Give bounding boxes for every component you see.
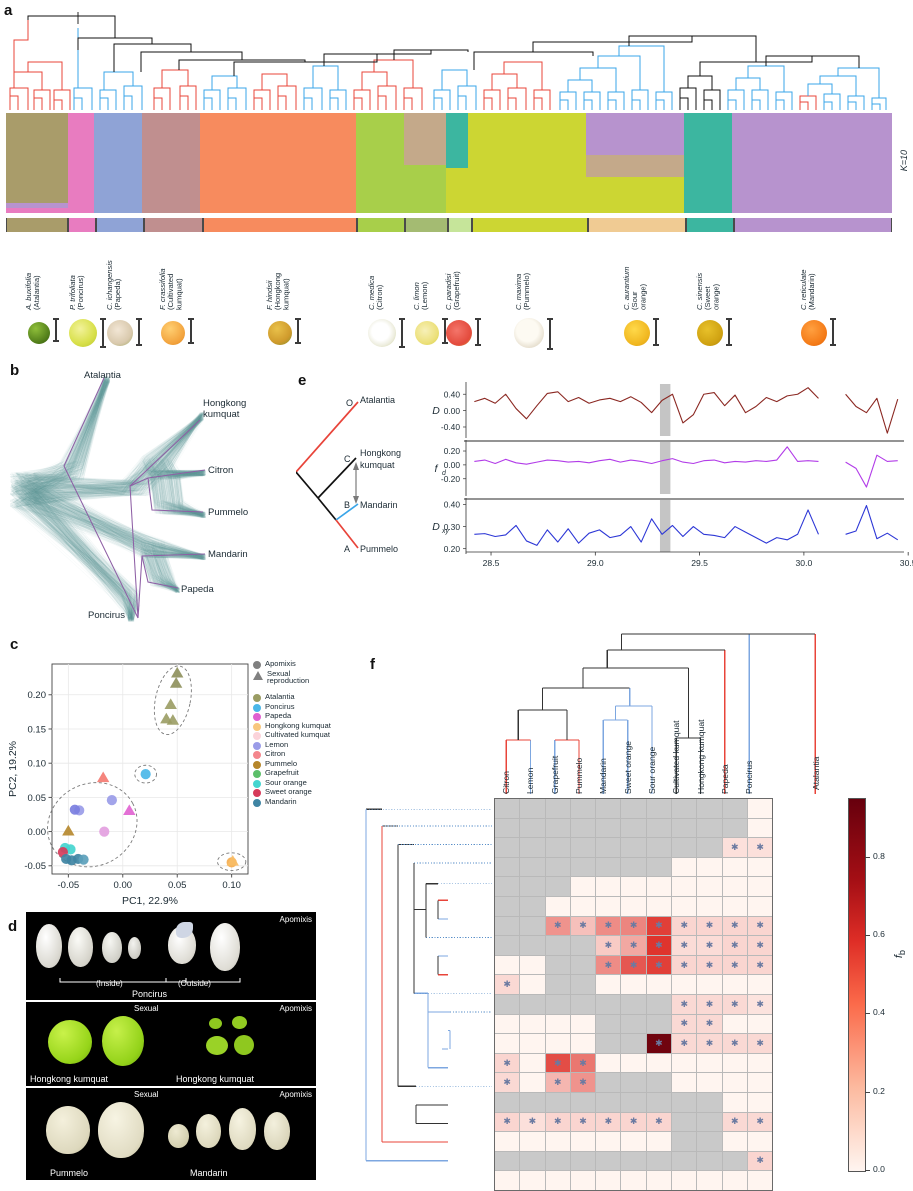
heatmap-cell — [697, 936, 721, 955]
heatmap-cell — [697, 956, 721, 975]
heatmap-cell — [723, 1034, 747, 1053]
heatmap-cell — [723, 1093, 747, 1112]
heatmap-cell — [723, 1015, 747, 1034]
heatmap-cell — [672, 1054, 696, 1073]
heatmap-col-label-8: Hongkong kumquat — [696, 690, 706, 794]
seed-caption-mandarin: Mandarin — [190, 1168, 228, 1178]
heatmap-cell — [647, 1132, 671, 1151]
scan-xtick-0: 28.5 — [483, 558, 500, 568]
scale-bar-9 — [655, 318, 657, 346]
scan-x-axis-label: Chr 4 (Mb) — [662, 571, 707, 572]
colorbar-tickmark — [865, 857, 870, 858]
heatmap-cell — [495, 1152, 519, 1171]
heatmap-col-label-10: Poncirus — [744, 690, 754, 794]
heatmap-cell — [697, 799, 721, 818]
heatmap-cell — [723, 975, 747, 994]
species-label-4: F. hindsii(Hongkongkumquat) — [266, 234, 291, 310]
heatmap-cell — [672, 917, 696, 936]
heatmap-cell — [571, 799, 595, 818]
heatmap-cell — [571, 858, 595, 877]
heatmap-cell — [520, 858, 544, 877]
ancestry-block — [732, 113, 892, 213]
heatmap-cell — [621, 936, 645, 955]
legend-label: Grapefruit — [265, 769, 299, 777]
ancestry-block — [586, 113, 684, 155]
svg-text:C: C — [344, 454, 351, 464]
heatmap-col-label-2: Grapefruit — [550, 690, 560, 794]
heatmap-cell — [621, 1093, 645, 1112]
colorbar-label: fb — [893, 950, 907, 958]
heatmap-cell — [596, 956, 620, 975]
heatmap-cell — [748, 1152, 772, 1171]
heatmap-cell — [672, 1152, 696, 1171]
scan-xtick-4: 30.5 — [900, 558, 913, 568]
heatmap-cell — [748, 936, 772, 955]
colorbar-tick-label-2: 0.4 — [873, 1007, 885, 1017]
heatmap-cell — [571, 1093, 595, 1112]
heatmap-cell — [697, 1113, 721, 1132]
ancestry-block — [6, 113, 68, 203]
heatmap-cell — [596, 1015, 620, 1034]
svg-text:O: O — [346, 398, 353, 408]
species-label-5: C. medica(Citron) — [368, 234, 384, 310]
structure-group-1 — [68, 113, 94, 213]
heatmap-cell — [647, 838, 671, 857]
heatmap-cell — [697, 1054, 721, 1073]
pca-point-19 — [78, 855, 88, 865]
heatmap-cell — [520, 897, 544, 916]
scan-xtick-3: 30.0 — [796, 558, 813, 568]
svg-text:Citron: Citron — [208, 465, 233, 476]
legend-label: Cultivated kumquat — [265, 731, 330, 739]
heatmap-cell — [495, 799, 519, 818]
scale-bar-3 — [190, 318, 192, 344]
heatmap-cell — [723, 956, 747, 975]
legend-dot — [253, 723, 261, 731]
heatmap-cell — [546, 1093, 570, 1112]
svg-text:Pummelo: Pummelo — [208, 507, 248, 518]
heatmap-cell — [571, 995, 595, 1014]
scan-ylabel-Dxy: D — [432, 521, 440, 533]
heatmap-cell — [546, 1054, 570, 1073]
heatmap-cell — [571, 956, 595, 975]
heatmap-cell — [495, 1171, 519, 1190]
ancestry-block — [684, 113, 732, 213]
heatmap-cell — [495, 838, 519, 857]
scale-bar-5 — [401, 318, 403, 348]
heatmap-col-label-1: Lemon — [525, 690, 535, 794]
scale-bar-2 — [138, 318, 140, 346]
seed-row-pummelo-mandarin: Sexual Apomixis Pummelo Mandarin — [26, 1088, 316, 1180]
panel-d-label: d — [8, 918, 17, 935]
ancestry-block — [586, 155, 684, 177]
heatmap-cell — [697, 1132, 721, 1151]
heatmap-cell — [596, 1054, 620, 1073]
fruit-photo-10 — [697, 320, 723, 346]
svg-text:0.15: 0.15 — [28, 724, 47, 735]
heatmap-cell — [571, 917, 595, 936]
heatmap-cell — [647, 917, 671, 936]
strip-segment-11 — [734, 218, 892, 232]
panel-c-pca: c -0.050.000.050.10-0.050.000.050.100.15… — [0, 622, 330, 910]
heatmap-cell — [520, 975, 544, 994]
heatmap-cell — [723, 897, 747, 916]
structure-group-8 — [468, 113, 586, 213]
seed-caption-pummelo: Pummelo — [50, 1168, 88, 1178]
heatmap-cell — [596, 936, 620, 955]
heatmap-cell — [748, 819, 772, 838]
scale-bar-8 — [549, 318, 551, 350]
strip-segment-6 — [405, 218, 448, 232]
heatmap-cell — [697, 1034, 721, 1053]
heatmap-cell — [596, 917, 620, 936]
svg-text:0.20: 0.20 — [28, 690, 47, 701]
fruit-photo-6 — [415, 321, 439, 345]
heatmap-cell — [571, 1034, 595, 1053]
heatmap-cell — [672, 838, 696, 857]
heatmap-cell — [621, 1073, 645, 1092]
heatmap-cell — [571, 819, 595, 838]
svg-text:0.05: 0.05 — [28, 793, 47, 804]
species-label-1: P. trifoliata(Poncirus) — [69, 234, 85, 310]
heatmap-cell — [647, 1093, 671, 1112]
heatmap-cell — [546, 1015, 570, 1034]
fruit-photo-9 — [624, 320, 650, 346]
heatmap-cell — [596, 858, 620, 877]
introgression-scan-svg: 0.400.00-0.40D0.200.00-0.20fd0.400.300.2… — [404, 376, 913, 572]
species-label-8: C. maxima(Pummelo) — [515, 234, 531, 310]
heatmap-cell — [571, 1113, 595, 1132]
heatmap-cell — [520, 1113, 544, 1132]
heatmap-cell — [672, 799, 696, 818]
heatmap-cell — [495, 1015, 519, 1034]
heatmap-cell — [647, 995, 671, 1014]
svg-text:0.00: 0.00 — [114, 880, 133, 891]
seed-caption-apomixis-1: Apomixis — [280, 915, 312, 924]
heatmap-cell — [723, 995, 747, 1014]
densitree-tip-atalantia: Atalantia — [84, 370, 122, 381]
strip-segment-4 — [203, 218, 357, 232]
heatmap-cell — [596, 995, 620, 1014]
heatmap-cell — [596, 819, 620, 838]
heatmap-cell — [672, 819, 696, 838]
heatmap-cell — [697, 877, 721, 896]
species-label-2: C. ichangensis(Papeda) — [106, 234, 122, 310]
legend-dot — [253, 704, 261, 712]
heatmap-cell — [546, 1113, 570, 1132]
strip-segment-9 — [588, 218, 685, 232]
heatmap-cell — [495, 1073, 519, 1092]
colorbar-tickmark — [865, 1170, 870, 1171]
colorbar-tick-label-3: 0.6 — [873, 929, 885, 939]
heatmap-cell — [596, 877, 620, 896]
fruit-photo-2 — [107, 320, 133, 346]
heatmap-cell — [748, 858, 772, 877]
heatmap-cell — [621, 1152, 645, 1171]
heatmap-cell — [621, 975, 645, 994]
legend-dot — [253, 751, 261, 759]
svg-text:0.10: 0.10 — [222, 880, 241, 891]
heatmap-col-label-4: Mandarin — [598, 690, 608, 794]
legend-label: Hongkong kumquat — [265, 722, 331, 730]
heatmap-cell — [723, 917, 747, 936]
legend-label: Sweet orange — [265, 788, 312, 796]
colorbar-tickmark — [865, 935, 870, 936]
strip-segment-2 — [96, 218, 145, 232]
scan-line-Dxy — [474, 506, 897, 546]
heatmap-cell — [520, 995, 544, 1014]
heatmap-cell — [520, 917, 544, 936]
heatmap-cell — [621, 1113, 645, 1132]
scale-bar-11 — [832, 318, 834, 346]
heatmap-cell — [520, 1171, 544, 1190]
ancestry-block — [68, 113, 94, 213]
heatmap-cell — [621, 1132, 645, 1151]
svg-text:0.00: 0.00 — [28, 827, 47, 838]
heatmap-cell — [697, 1152, 721, 1171]
heatmap-cell — [546, 1132, 570, 1151]
heatmap-cell — [748, 956, 772, 975]
species-label-7: C. paradisi(Grapefruit) — [445, 234, 461, 310]
heatmap-cell — [571, 1171, 595, 1190]
svg-text:0.20: 0.20 — [444, 446, 461, 456]
scan-xtick-2: 29.5 — [691, 558, 708, 568]
strip-segment-3 — [144, 218, 202, 232]
scan-line-D — [474, 388, 897, 433]
heatmap-cell — [647, 1113, 671, 1132]
heatmap-cell — [596, 1073, 620, 1092]
heatmap-cell — [672, 1073, 696, 1092]
heatmap-cell — [647, 1054, 671, 1073]
legend-label: Sexual reproduction — [267, 670, 333, 685]
pca-point-11 — [99, 826, 109, 836]
legend-label: Lemon — [265, 741, 288, 749]
tree-tip-pummelo: Pummelo — [360, 544, 398, 554]
heatmap-cell — [520, 799, 544, 818]
ancestry-block — [446, 113, 468, 168]
heatmap-cell — [621, 995, 645, 1014]
strip-segment-10 — [686, 218, 735, 232]
structure-group-9 — [586, 113, 684, 213]
structure-group-6 — [404, 113, 446, 213]
svg-text:0.20: 0.20 — [444, 544, 461, 554]
heatmap-cell — [495, 1054, 519, 1073]
heatmap-cell — [723, 1132, 747, 1151]
scale-bar-10 — [728, 318, 730, 346]
heatmap-col-label-0: Citron — [501, 690, 511, 794]
structure-group-11 — [732, 113, 892, 213]
heatmap-cell — [596, 1132, 620, 1151]
seed-caption-inside: (Inside) — [96, 979, 123, 988]
species-label-0: A. buxifolia(Atalantia) — [25, 234, 41, 310]
heatmap-cell — [647, 1073, 671, 1092]
heatmap-cell — [495, 1034, 519, 1053]
ancestry-block — [446, 168, 468, 213]
heatmap-cell — [647, 799, 671, 818]
heatmap-col-label-9: Papeda — [720, 690, 730, 794]
heatmap-cell — [672, 1015, 696, 1034]
heatmap-cell — [571, 936, 595, 955]
pca-point-10 — [70, 805, 80, 815]
ancestry-block — [6, 208, 68, 213]
heatmap-col-label-7: Cultivated kumquat — [671, 690, 681, 794]
heatmap-cell — [697, 995, 721, 1014]
legend-dot — [253, 713, 261, 721]
heatmap-cell — [546, 956, 570, 975]
heatmap-cell — [621, 956, 645, 975]
heatmap-cell — [647, 819, 671, 838]
heatmap-cell — [621, 1054, 645, 1073]
heatmap-cell — [621, 838, 645, 857]
svg-text:xy: xy — [441, 528, 450, 535]
heatmap-cell — [748, 838, 772, 857]
legend-dot — [253, 789, 261, 797]
strip-segment-1 — [68, 218, 95, 232]
heatmap-cell — [546, 1073, 570, 1092]
strip-segment-5 — [357, 218, 406, 232]
heatmap-col-label-6: Sour orange — [647, 690, 657, 794]
pca-point-5 — [141, 769, 151, 779]
pca-legend-group-11: Mandarin — [253, 798, 333, 807]
legend-label: Pummelo — [265, 760, 297, 768]
heatmap-cell — [672, 936, 696, 955]
heatmap-cell — [723, 1171, 747, 1190]
scale-bar-4 — [297, 318, 299, 344]
heatmap-cell — [621, 858, 645, 877]
heatmap-cell — [546, 897, 570, 916]
heatmap-cell — [546, 936, 570, 955]
structure-admixture-plot — [6, 113, 892, 213]
heatmap-cell — [672, 1171, 696, 1190]
svg-text:-0.05: -0.05 — [58, 880, 80, 891]
heatmap-cell — [546, 995, 570, 1014]
structure-group-4 — [200, 113, 356, 213]
heatmap-cell — [621, 799, 645, 818]
heatmap-cell — [621, 1034, 645, 1053]
ancestry-block — [404, 165, 446, 213]
legend-marker — [253, 661, 261, 669]
pca-point-8 — [107, 795, 117, 805]
fruit-photo-8 — [514, 318, 544, 348]
heatmap-cell — [748, 799, 772, 818]
heatmap-cell — [546, 838, 570, 857]
seed-caption-apomixis-2: Apomixis — [280, 1004, 312, 1013]
heatmap-cell — [647, 897, 671, 916]
densitree-svg: Atalantia Hongkongkumquat Citron Pummelo… — [0, 360, 300, 622]
heatmap-cell — [748, 975, 772, 994]
structure-group-2 — [94, 113, 142, 213]
legend-dot — [253, 770, 261, 778]
legend-dot — [253, 761, 261, 769]
heatmap-cell — [495, 956, 519, 975]
panel-d-seed-photos: Apomixis (Inside) (Outside) Poncirus Sex… — [26, 912, 316, 1178]
legend-dot — [253, 732, 261, 740]
heatmap-cell — [571, 877, 595, 896]
heatmap-cell — [546, 858, 570, 877]
colorbar-tickmark — [865, 1092, 870, 1093]
svg-text:-0.40: -0.40 — [441, 422, 460, 432]
heatmap-cell — [571, 1132, 595, 1151]
scan-xtick-1: 29.0 — [587, 558, 604, 568]
svg-text:0.40: 0.40 — [444, 500, 461, 510]
species-label-9: C. aurantium(Sourorange) — [623, 234, 648, 310]
strip-segment-7 — [448, 218, 471, 232]
tree-tip-atalantia: Atalantia — [360, 395, 395, 405]
heatmap-cell — [596, 1093, 620, 1112]
heatmap-cell — [596, 799, 620, 818]
heatmap-cell — [647, 975, 671, 994]
species-label-6: C. limon(Lemon) — [413, 234, 429, 310]
heatmap-cell — [672, 995, 696, 1014]
heatmap-cell — [495, 995, 519, 1014]
legend-label: Poncirus — [265, 703, 295, 711]
seed-caption-poncirus: Poncirus — [132, 989, 167, 999]
heatmap-cell — [596, 897, 620, 916]
heatmap-cell — [723, 838, 747, 857]
scan-ylabel-fd: f — [435, 463, 439, 475]
heatmap-cell — [546, 877, 570, 896]
heatmap-cell — [723, 799, 747, 818]
heatmap-cell — [495, 1093, 519, 1112]
legend-marker — [253, 671, 263, 680]
seed-caption-hk-kumquat-1: Hongkong kumquat — [30, 1074, 108, 1084]
strip-segment-0 — [6, 218, 68, 232]
seed-caption-sexual-1: Sexual — [134, 1004, 158, 1013]
svg-text:0.40: 0.40 — [444, 389, 461, 399]
heatmap-cell — [520, 819, 544, 838]
heatmap-cell — [748, 1034, 772, 1053]
heatmap-cell — [697, 1015, 721, 1034]
heatmap-cell — [546, 799, 570, 818]
heatmap-cell — [520, 1093, 544, 1112]
svg-text:B: B — [344, 500, 350, 510]
heatmap-cell — [723, 936, 747, 955]
heatmap-cell — [596, 975, 620, 994]
legend-dot — [253, 799, 261, 807]
fruit-photo-4 — [268, 321, 292, 345]
heatmap-cell — [697, 819, 721, 838]
heatmap-cell — [520, 1132, 544, 1151]
svg-text:kumquat: kumquat — [203, 409, 240, 420]
heatmap-cell — [647, 1015, 671, 1034]
heatmap-cell — [621, 897, 645, 916]
fruit-photo-1 — [69, 319, 97, 347]
legend-label: Mandarin — [265, 798, 297, 806]
ancestry-block — [356, 113, 404, 213]
fruit-photo-7 — [446, 320, 472, 346]
tree-tip-mandarin: Mandarin — [360, 500, 398, 510]
heatmap-col-label-3: Pummelo — [574, 690, 584, 794]
heatmap-cell — [672, 877, 696, 896]
heatmap-cell — [697, 975, 721, 994]
heatmap-cell — [571, 1054, 595, 1073]
heatmap-cell — [697, 1171, 721, 1190]
heatmap-cell — [647, 1152, 671, 1171]
heatmap-cell — [520, 1015, 544, 1034]
heatmap-cell — [672, 1034, 696, 1053]
ancestry-block — [94, 113, 142, 213]
heatmap-cell — [520, 1054, 544, 1073]
heatmap-cell — [748, 1171, 772, 1190]
seed-caption-apomixis-3: Apomixis — [280, 1090, 312, 1099]
svg-text:0.00: 0.00 — [444, 460, 461, 470]
seed-caption-hk-kumquat-2: Hongkong kumquat — [176, 1074, 254, 1084]
legend-dot — [253, 694, 261, 702]
fruit-photo-11 — [801, 320, 827, 346]
heatmap-cell — [647, 936, 671, 955]
heatmap-cell — [571, 1015, 595, 1034]
ancestry-block — [200, 113, 356, 213]
